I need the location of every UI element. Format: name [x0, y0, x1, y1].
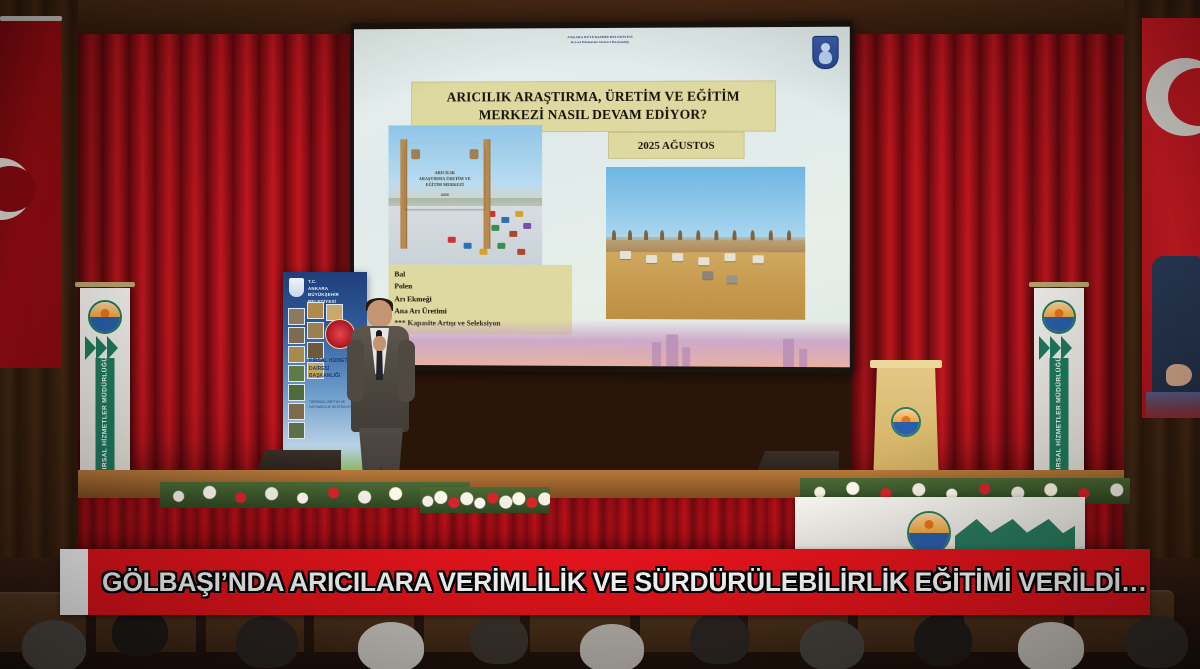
sign-photo-year: 2025 — [405, 193, 484, 197]
turkish-flag-left — [0, 18, 62, 368]
flag-rod-left — [0, 16, 62, 21]
presentation-slide: ANKARA BÜYÜKŞEHİR BELEDİYESİ Kırsal Hizm… — [354, 27, 850, 368]
list-item: Bal — [394, 269, 566, 282]
pennant-logo-icon — [88, 300, 122, 334]
flower-arrangement-center — [420, 487, 550, 513]
slide-org-header: ANKARA BÜYÜKŞEHİR BELEDİYESİ Kırsal Hizm… — [354, 34, 850, 47]
screenshot-root: ANKARA BÜYÜKŞEHİR BELEDİYESİ Kırsal Hizm… — [0, 0, 1200, 669]
ataturk-portrait — [1146, 196, 1200, 426]
front-banner-leaf-graphic — [955, 519, 1075, 553]
pennant-label-left: KIRSAL HİZMETLER MÜDÜRLÜĞÜ — [96, 358, 115, 474]
pennant-banner-left: KIRSAL HİZMETLER MÜDÜRLÜĞÜ — [80, 288, 130, 494]
pennant-label-right: KIRSAL HİZMETLER MÜDÜRLÜĞÜ — [1050, 358, 1069, 474]
pennant-banner-right: KIRSAL HİZMETLER MÜDÜRLÜĞÜ — [1034, 288, 1084, 494]
sign-photo-text: ARICILIK ARAŞTIRMA ÜRETİM VE EĞİTİM MERK… — [405, 170, 484, 188]
list-item: Ana Arı Üretimi — [394, 305, 566, 318]
list-item: Arı Ekmeği — [394, 293, 566, 306]
podium-lectern — [873, 365, 939, 487]
slide-photo-apiary-field — [606, 167, 805, 320]
list-item: Polen — [394, 281, 566, 294]
projection-screen-frame: ANKARA BÜYÜKŞEHİR BELEDİYESİ Kırsal Hizm… — [351, 21, 853, 374]
municipality-logo-icon — [812, 36, 838, 69]
pennant-logo-icon — [1042, 300, 1076, 334]
podium-emblem-icon — [891, 407, 921, 437]
slide-date-label: 2025 AĞUSTOS — [608, 132, 745, 159]
slide-title: ARICILIK ARAŞTIRMA, ÜRETİM VE EĞİTİM MER… — [411, 80, 776, 132]
speaker-presenter — [345, 300, 417, 490]
slide-skyline-decor — [354, 319, 850, 367]
rollup-logo-icon — [289, 278, 304, 297]
slide-photo-entrance-sign: ARICILIK ARAŞTIRMA ÜRETİM VE EĞİTİM MERK… — [388, 125, 542, 265]
news-banner-tab — [60, 549, 88, 615]
news-banner-headline: GÖLBAŞI’NDA ARICILARA VERİMLİLİK VE SÜRD… — [102, 549, 1142, 615]
